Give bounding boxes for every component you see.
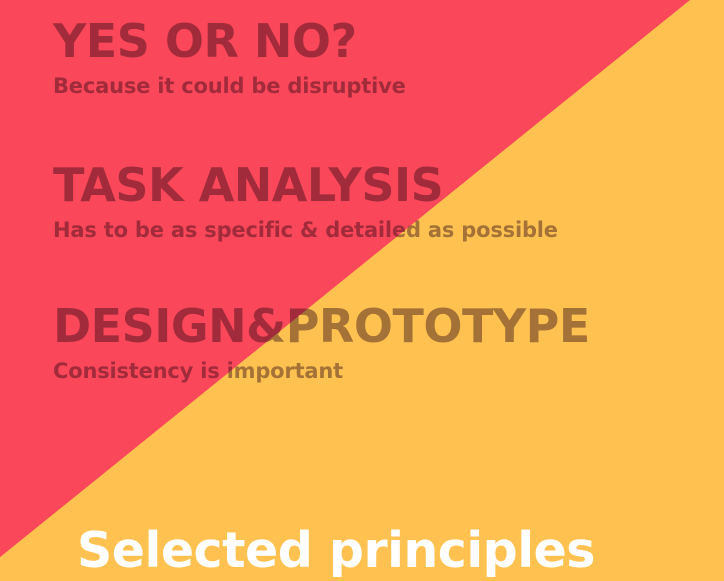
principle-subheading: Consistency is important xyxy=(53,361,590,382)
slide-content: YES OR NO? Because it could be disruptiv… xyxy=(0,0,724,581)
principle-subheading: Because it could be disruptive xyxy=(53,76,406,97)
principle-row: TASK ANALYSIS Has to be as specific & de… xyxy=(53,162,558,241)
principle-heading: DESIGN&PROTOTYPE xyxy=(53,303,590,349)
principle-heading: YES OR NO? xyxy=(53,18,406,64)
principle-heading: TASK ANALYSIS xyxy=(53,162,558,208)
principle-subheading: Has to be as specific & detailed as poss… xyxy=(53,220,558,241)
slide-canvas: YES OR NO? Because it could be disruptiv… xyxy=(0,0,724,581)
slide-footer-title: Selected principles xyxy=(77,524,595,578)
principle-row: DESIGN&PROTOTYPE Consistency is importan… xyxy=(53,303,590,382)
principle-row: YES OR NO? Because it could be disruptiv… xyxy=(53,18,406,97)
